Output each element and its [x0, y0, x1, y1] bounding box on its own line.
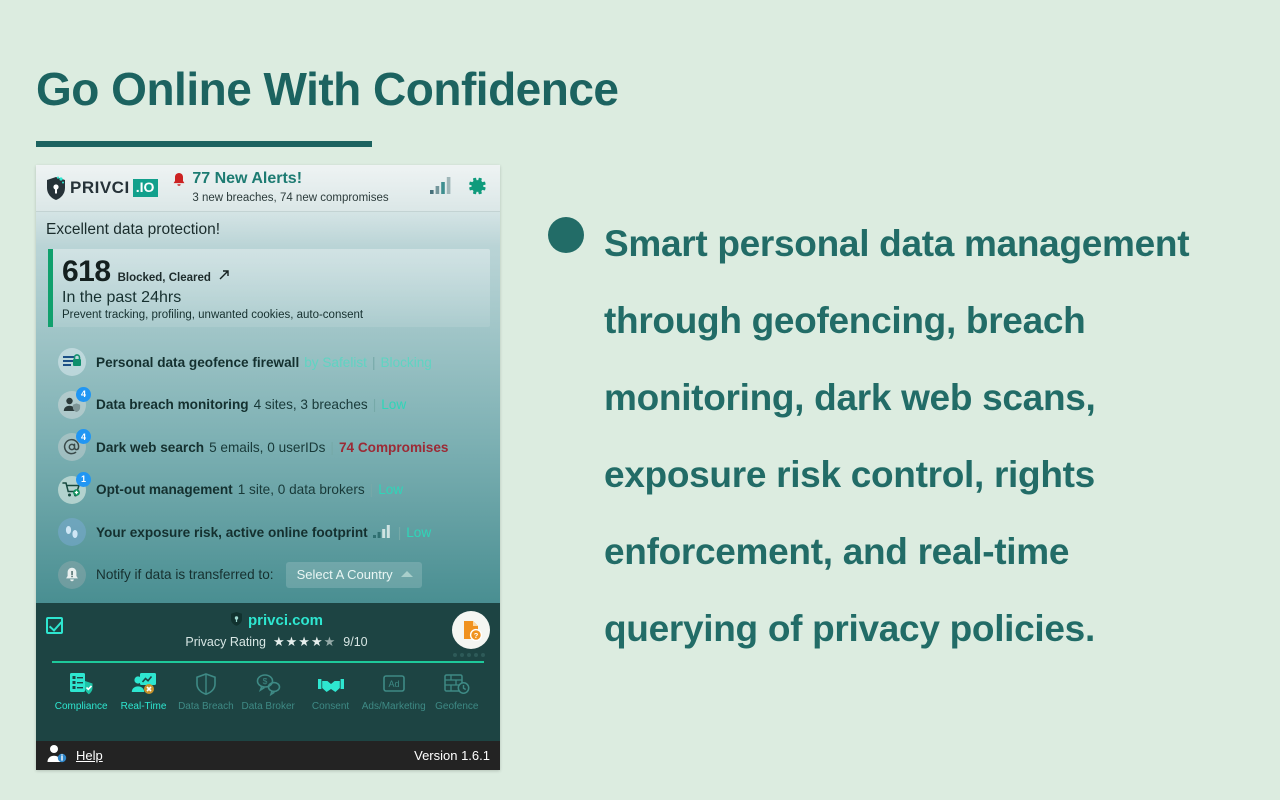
- bell-icon: [172, 172, 186, 192]
- row-exposure-risk[interactable]: Your exposure risk, active online footpr…: [36, 511, 500, 554]
- real-time-monitor-icon: [112, 669, 174, 699]
- tab-consent[interactable]: Consent: [299, 669, 361, 712]
- tab-label: Geofence: [426, 701, 488, 712]
- row-title: Personal data geofence firewall: [96, 355, 299, 370]
- alert-subtitle: 3 new breaches, 74 new compromises: [192, 192, 388, 204]
- gear-icon[interactable]: [464, 174, 488, 203]
- handshake-icon: [299, 669, 361, 699]
- page-title: Go Online With Confidence: [36, 62, 619, 116]
- version-label: Version 1.6.1: [414, 748, 490, 763]
- svg-text:?: ?: [474, 631, 479, 640]
- document-question-icon[interactable]: ?: [452, 611, 490, 649]
- privacy-rating-label: Privacy Rating: [185, 635, 266, 649]
- tab-data-broker[interactable]: $ Data Broker: [237, 669, 299, 712]
- row-title: Your exposure risk, active online footpr…: [96, 525, 368, 540]
- signal-bars-icon[interactable]: [430, 177, 454, 199]
- shield-logo-icon: [45, 176, 67, 201]
- help-link[interactable]: Help: [76, 748, 103, 763]
- footprint-icon: [58, 518, 86, 546]
- row-title: Data breach monitoring: [96, 397, 249, 412]
- risk-level-bars-icon: [373, 526, 393, 538]
- tab-data-breach[interactable]: Data Breach: [175, 669, 237, 712]
- row-detail: 4 sites, 3 breaches: [254, 397, 368, 412]
- row-separator: |: [330, 440, 334, 455]
- geofence-clock-icon: [426, 669, 488, 699]
- row-opt-out-management[interactable]: 1 Opt-out management 1 site, 0 data brok…: [36, 469, 500, 512]
- stat-number-label: Blocked, Cleared: [118, 272, 211, 284]
- bullet-block: Smart personal data management through g…: [548, 205, 1248, 667]
- tab-compliance[interactable]: Compliance: [50, 669, 112, 712]
- row-badge: 4: [76, 387, 91, 402]
- row-title: Opt-out management: [96, 482, 233, 497]
- breach-monitor-icon: 4: [58, 391, 86, 419]
- stat-accent-bar: [48, 249, 53, 327]
- row-status: 74 Compromises: [339, 440, 449, 455]
- blocked-stat-card: 618 Blocked, Cleared In the past 24hrs P…: [48, 249, 490, 327]
- row-status: Blocking: [380, 355, 431, 370]
- stat-number: 618: [62, 256, 111, 287]
- star-rating-icon: ★★★★★: [273, 634, 336, 650]
- alert-title: 77 New Alerts!: [192, 170, 302, 187]
- checkbox-checked-icon[interactable]: [46, 617, 63, 634]
- protection-status: Excellent data protection!: [36, 212, 500, 247]
- row-status: Low: [378, 482, 403, 497]
- logo-wordmark: PRIVCI: [70, 178, 130, 198]
- app-header: PRIVCI .IO 77 New Alerts! 3 new breaches…: [36, 165, 500, 212]
- data-broker-chat-icon: $: [237, 669, 299, 699]
- row-geofence-firewall[interactable]: Personal data geofence firewall by Safel…: [36, 341, 500, 384]
- slide-root: Go Online With Confidence Smart personal…: [0, 0, 1280, 800]
- row-detail: 5 emails, 0 userIDs: [209, 440, 325, 455]
- trend-up-arrow-icon: [218, 268, 230, 286]
- stat-period: In the past 24hrs: [62, 288, 490, 308]
- feature-rows: Personal data geofence firewall by Safel…: [36, 341, 500, 596]
- tab-label: Data Broker: [237, 701, 299, 712]
- svg-text:$: $: [263, 676, 268, 686]
- tab-label: Data Breach: [175, 701, 237, 712]
- row-detail: by Safelist: [304, 355, 367, 370]
- notify-label: Notify if data is transferred to:: [96, 567, 274, 582]
- row-separator: |: [398, 525, 402, 540]
- row-status: Low: [406, 525, 431, 540]
- alert-block[interactable]: 77 New Alerts! 3 new breaches, 74 new co…: [172, 170, 388, 206]
- shield-icon: [230, 611, 243, 630]
- compliance-checklist-icon: [50, 669, 112, 699]
- bullet-text: Smart personal data management through g…: [604, 205, 1204, 667]
- row-separator: |: [372, 355, 376, 370]
- row-badge: 1: [76, 472, 91, 487]
- country-select-value: Select A Country: [297, 567, 393, 582]
- tab-label: Compliance: [50, 701, 112, 712]
- bullet-dot-icon: [548, 217, 584, 253]
- row-data-breach-monitoring[interactable]: 4 Data breach monitoring 4 sites, 3 brea…: [36, 384, 500, 427]
- row-dark-web-search[interactable]: 4 Dark web search 5 emails, 0 userIDs | …: [36, 426, 500, 469]
- site-name: privci.com: [248, 612, 323, 629]
- app-logo: PRIVCI .IO: [45, 176, 158, 201]
- country-select[interactable]: Select A Country: [286, 562, 422, 588]
- site-name-row[interactable]: privci.com: [230, 611, 323, 630]
- site-summary: privci.com Privacy Rating ★★★★★ 9/10: [63, 611, 490, 650]
- privci-app-panel: PRIVCI .IO 77 New Alerts! 3 new breaches…: [36, 165, 500, 770]
- header-right-controls: [430, 174, 488, 203]
- opt-out-cart-icon: 1: [58, 476, 86, 504]
- row-separator: |: [373, 397, 377, 412]
- row-title: Dark web search: [96, 440, 204, 455]
- app-footer: privci.com Privacy Rating ★★★★★ 9/10: [36, 603, 500, 741]
- notification-bell-icon: [58, 561, 86, 589]
- footer-tabs: Compliance Real-Time: [46, 663, 490, 712]
- app-bottom-bar: Help Version 1.6.1: [36, 741, 500, 770]
- tab-label: Consent: [299, 701, 361, 712]
- row-separator: |: [370, 482, 374, 497]
- privacy-rating-value: 9/10: [343, 635, 367, 649]
- carousel-dots: [453, 653, 485, 657]
- row-notify-country[interactable]: Notify if data is transferred to: Select…: [36, 554, 500, 597]
- geofence-firewall-icon: [58, 348, 86, 376]
- svg-text:Ad: Ad: [388, 679, 399, 689]
- shield-icon: [175, 669, 237, 699]
- row-status: Low: [381, 397, 406, 412]
- tab-label: Real-Time: [112, 701, 174, 712]
- tab-real-time[interactable]: Real-Time: [112, 669, 174, 712]
- caret-up-icon: [401, 571, 413, 577]
- row-detail: 1 site, 0 data brokers: [238, 482, 365, 497]
- tab-label: Ads/Marketing: [362, 701, 426, 712]
- stat-description: Prevent tracking, profiling, unwanted co…: [62, 308, 490, 323]
- tab-ads-marketing[interactable]: Ad Ads/Marketing: [362, 669, 426, 712]
- logo-tld: .IO: [133, 179, 159, 197]
- privacy-rating-row: Privacy Rating ★★★★★ 9/10: [63, 634, 490, 650]
- title-underline: [36, 141, 372, 147]
- user-info-icon[interactable]: [46, 743, 68, 768]
- row-badge: 4: [76, 429, 91, 444]
- ad-badge-icon: Ad: [362, 669, 426, 699]
- tab-geofence[interactable]: Geofence: [426, 669, 488, 712]
- at-sign-icon: 4: [58, 433, 86, 461]
